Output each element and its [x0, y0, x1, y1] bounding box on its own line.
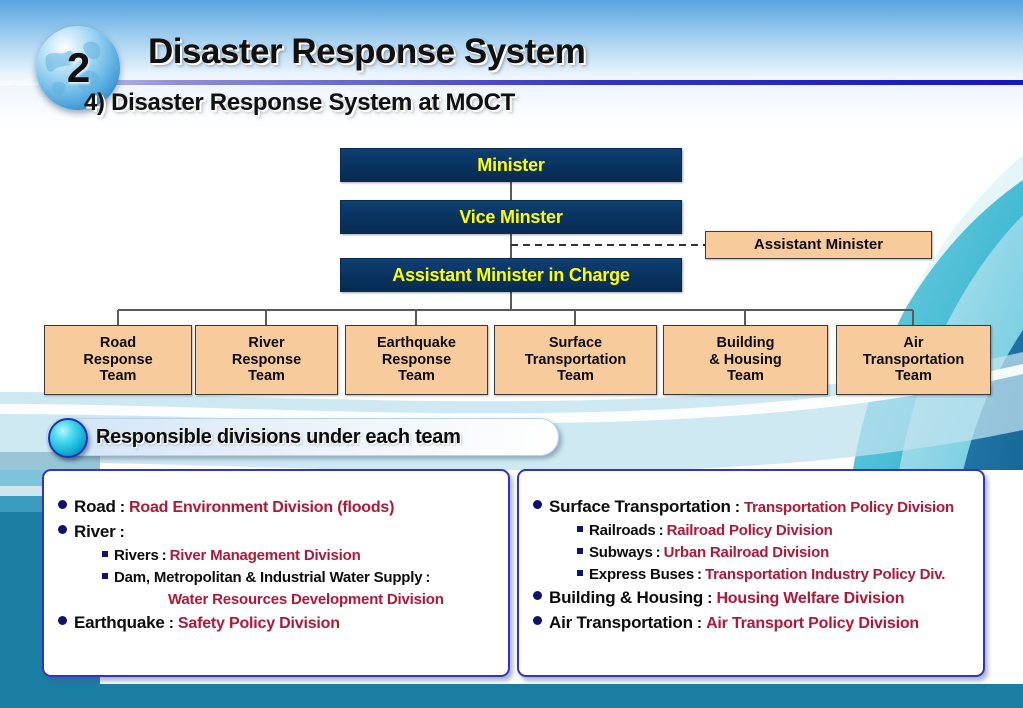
item-value: Urban Railroad Division: [664, 544, 829, 561]
item-separator: :: [422, 569, 433, 586]
item-value: Transportation Industry Policy Div.: [705, 566, 945, 583]
bullet-dot-icon: [533, 591, 542, 600]
item-value: Air Transport Policy Division: [706, 615, 919, 633]
team-line-3: Team: [709, 368, 782, 385]
org-node-river-response-team[interactable]: River Response Team: [195, 325, 338, 395]
team-line-2: Transportation: [525, 352, 627, 369]
team-line-3: Team: [83, 368, 152, 385]
item-label: River: [74, 522, 116, 542]
bullet-dot-icon: [58, 525, 67, 534]
list-item-continuation: Water Resources Development Division: [58, 591, 498, 608]
item-separator: :: [653, 544, 664, 561]
item-separator: :: [116, 524, 129, 542]
team-line-2: Response: [83, 352, 152, 369]
org-node-road-response-team[interactable]: Road Response Team: [44, 325, 192, 395]
item-label: Subways: [589, 544, 653, 561]
org-node-assistant-minister[interactable]: Assistant Minister: [705, 231, 932, 259]
team-line-2: Transportation: [863, 352, 965, 369]
divisions-panel-right: Surface Transportation : Transportation …: [517, 469, 985, 677]
item-label: Rivers: [114, 547, 159, 564]
item-separator: :: [694, 566, 705, 583]
team-line-3: Team: [377, 368, 456, 385]
divisions-panel-left: Road : Road Environment Division (floods…: [42, 469, 510, 677]
item-label: Railroads: [589, 522, 656, 539]
item-label: Road: [74, 497, 116, 517]
item-label: Air Transportation: [549, 613, 693, 633]
bullet-square-icon: [577, 526, 583, 532]
list-item: River :: [58, 522, 498, 542]
item-label: Earthquake: [74, 613, 165, 633]
org-node-minister[interactable]: Minister: [340, 148, 682, 182]
team-line-1: Earthquake: [377, 335, 456, 352]
item-value: Safety Policy Division: [178, 615, 340, 633]
org-node-vice-minister[interactable]: Vice Minster: [340, 200, 682, 234]
item-separator: :: [159, 547, 170, 564]
bullet-dot-icon: [58, 616, 67, 625]
item-value: Transportation Policy Division: [744, 499, 954, 516]
item-value: Water Resources Development Division: [168, 591, 444, 608]
item-separator: :: [656, 522, 667, 539]
team-line-1: River: [232, 335, 301, 352]
bullet-dot-icon: [533, 500, 542, 509]
team-line-1: Building: [709, 335, 782, 352]
org-node-earthquake-response-team[interactable]: Earthquake Response Team: [345, 325, 488, 395]
item-value: Road Environment Division (floods): [129, 499, 394, 517]
list-item: Dam, Metropolitan & Industrial Water Sup…: [58, 569, 498, 586]
item-label: Dam, Metropolitan & Industrial Water Sup…: [114, 569, 422, 586]
item-label: Surface Transportation: [549, 497, 731, 517]
team-line-2: & Housing: [709, 352, 782, 369]
item-separator: :: [116, 499, 129, 517]
bullet-square-icon: [102, 573, 108, 579]
item-separator: :: [693, 615, 706, 633]
item-separator: :: [731, 499, 744, 517]
team-line-3: Team: [525, 368, 627, 385]
team-line-2: Response: [232, 352, 301, 369]
bullet-dot-icon: [58, 500, 67, 509]
item-value: Railroad Policy Division: [667, 522, 833, 539]
team-line-1: Surface: [525, 335, 627, 352]
team-line-1: Air: [863, 335, 965, 352]
list-item: Subways : Urban Railroad Division: [533, 544, 973, 561]
slide-canvas: 2 Disaster Response System 4) Disaster R…: [0, 0, 1023, 708]
list-item: Building & Housing : Housing Welfare Div…: [533, 588, 973, 608]
list-item: Express Buses : Transportation Industry …: [533, 566, 973, 583]
team-line-3: Team: [863, 368, 965, 385]
org-node-surface-transportation-team[interactable]: Surface Transportation Team: [494, 325, 657, 395]
team-line-3: Team: [232, 368, 301, 385]
bullet-dot-icon: [533, 616, 542, 625]
bullet-square-icon: [102, 551, 108, 557]
item-separator: :: [165, 615, 178, 633]
list-item: Earthquake : Safety Policy Division: [58, 613, 498, 633]
bullet-square-icon: [577, 548, 583, 554]
item-separator: :: [703, 590, 716, 608]
team-line-2: Response: [377, 352, 456, 369]
bullet-square-icon: [577, 570, 583, 576]
list-item: Road : Road Environment Division (floods…: [58, 497, 498, 517]
org-node-assistant-minister-in-charge[interactable]: Assistant Minister in Charge: [340, 258, 682, 292]
list-item: Rivers : River Management Division: [58, 547, 498, 564]
item-label: Express Buses: [589, 566, 694, 583]
item-value: Housing Welfare Division: [716, 590, 904, 608]
list-item: Air Transportation : Air Transport Polic…: [533, 613, 973, 633]
team-line-1: Road: [83, 335, 152, 352]
org-node-building-housing-team[interactable]: Building & Housing Team: [663, 325, 828, 395]
item-value: River Management Division: [170, 547, 361, 564]
org-chart: Minister Vice Minster Assistant Minister…: [0, 0, 1023, 400]
list-item: Surface Transportation : Transportation …: [533, 497, 973, 517]
blue-sphere-icon: [48, 418, 88, 458]
list-item: Railroads : Railroad Policy Division: [533, 522, 973, 539]
section-banner-label: Responsible divisions under each team: [96, 421, 461, 453]
org-node-air-transportation-team[interactable]: Air Transportation Team: [836, 325, 991, 395]
item-label: Building & Housing: [549, 588, 703, 608]
